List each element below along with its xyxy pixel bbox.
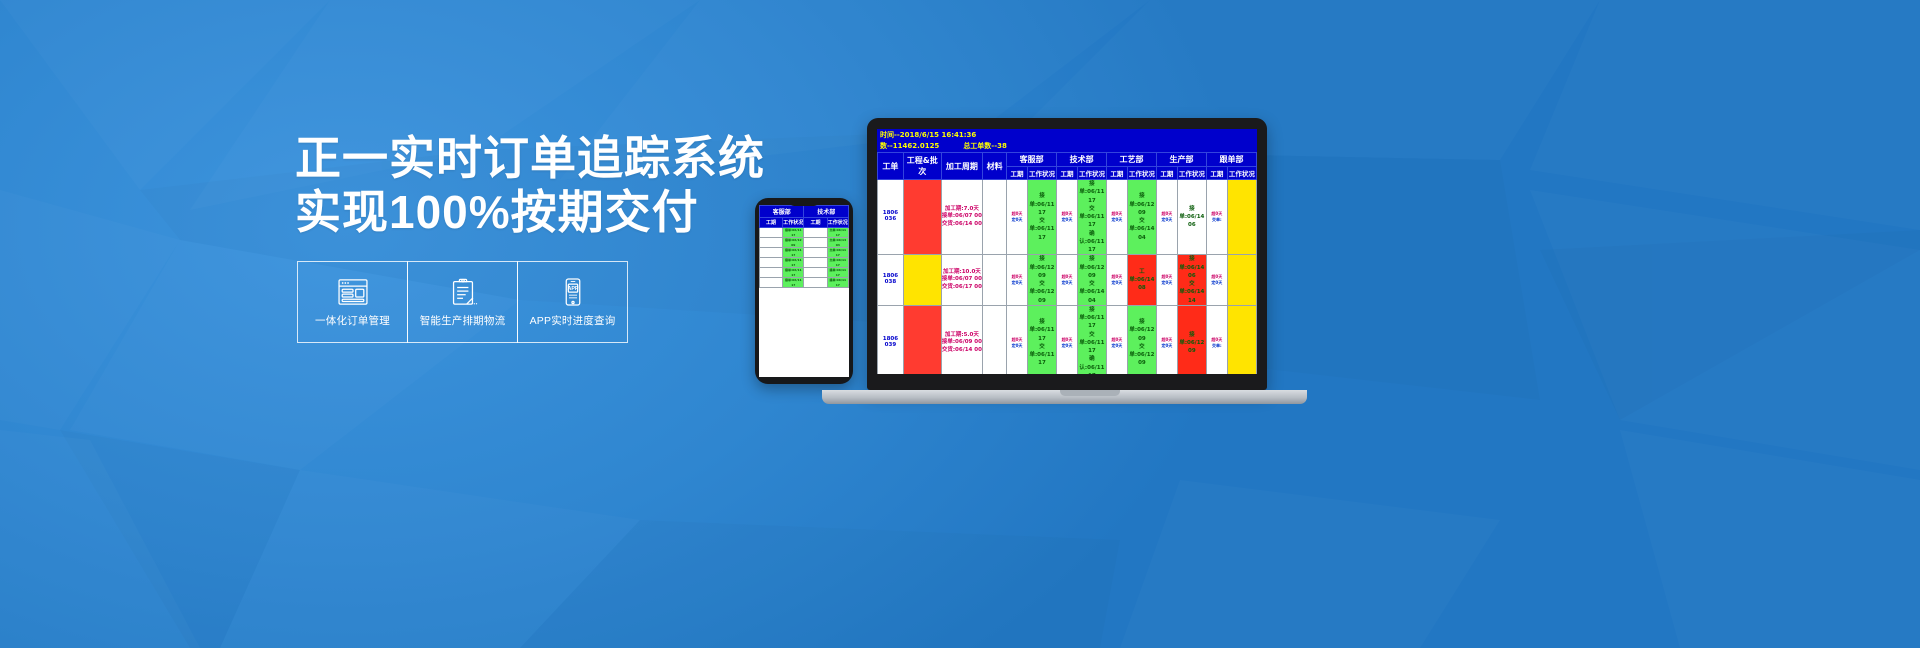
cell-duration: 超0天 定0天 xyxy=(1057,180,1078,255)
cycle-line: 交货:06/14 00 xyxy=(942,221,982,228)
feature-label: 一体化订单管理 xyxy=(315,313,390,328)
col-header-duration: 工期 xyxy=(1107,167,1128,180)
col-header-duration: 工期 xyxy=(1007,167,1028,180)
cell-status: 接单:06/12 09 xyxy=(1177,305,1206,374)
sub-label: 定0天 xyxy=(1107,280,1127,286)
cell-duration: 超0天 定0天 xyxy=(1007,255,1028,306)
status-line: 接单:06/12 09 xyxy=(1128,318,1156,343)
dashboard-total-label: 总工单数--38 xyxy=(963,141,1007,151)
cell-status: 接单:06/12 09 交单:06/12 09 xyxy=(1127,305,1156,374)
cell-duration: 超0天 定0天 xyxy=(1107,180,1128,255)
cell-status: 接单:06/11 17 交单:06/11 17 确认:06/11 17 xyxy=(1077,305,1106,374)
col-header-duration: 工期 xyxy=(1157,167,1178,180)
cell-status: 工单:06/14 08 xyxy=(1127,255,1156,306)
status-line: 接单:06/12 09 xyxy=(1078,255,1106,280)
status-line: 交单:06/12 09 xyxy=(1028,280,1056,305)
phone-column-header-row: 工期 工作状况 工期 工作状况 xyxy=(760,218,849,228)
phone-status-cell: 交单:06/11 17 xyxy=(827,248,848,258)
cell-work-order: 1806 036 xyxy=(878,180,904,255)
table-row: 1806 036 加工期:7.0天 接单:06/07 00 交货:06/14 0… xyxy=(878,180,1257,255)
laptop-screen[interactable]: 时间--2018/6/15 16:41:36 数--11462.0125 总工单… xyxy=(877,129,1257,374)
cell-work-order: 1806 039 xyxy=(878,305,904,374)
cell-project-batch xyxy=(903,305,941,374)
phone-mockup: 客服部 技术部 工期 工作状况 工期 工作状况 接单:06/11 17 交单:0… xyxy=(755,198,853,384)
status-line: 接单:06/14 06 xyxy=(1178,205,1206,230)
cell-duration: 超0天 定0天 xyxy=(1107,305,1128,374)
cell-status: 接单:06/12 09 交单:06/12 09 xyxy=(1027,255,1056,306)
phone-status-cell: 交单:06/11 17 xyxy=(827,228,848,238)
svg-text:APP: APP xyxy=(567,286,578,292)
sub-label: 定0天 xyxy=(1057,217,1077,223)
cell-duration: 超0天 定0天 xyxy=(1157,305,1178,374)
dept-header-technical: 技术部 xyxy=(1057,153,1107,167)
cell-duration: 超0天 定0天 xyxy=(1057,255,1078,306)
sub-label: 定0天 xyxy=(1157,343,1177,349)
cell-material xyxy=(983,180,1007,255)
phone-table-row: 接单:06/12 09 交单:06/14 04 xyxy=(760,238,849,248)
status-line: 工单:06/14 08 xyxy=(1128,268,1156,293)
cell-duration: 超0天 交单: xyxy=(1206,180,1227,255)
cell-work-order: 1806 038 xyxy=(878,255,904,306)
col-header-status: 工作状况 xyxy=(1077,167,1106,180)
dept-header-process: 工艺部 xyxy=(1107,153,1157,167)
col-header-duration: 工期 xyxy=(1206,167,1227,180)
dept-header-customer-service: 客服部 xyxy=(1007,153,1057,167)
cell-material xyxy=(983,255,1007,306)
sub-label: 定0天 xyxy=(1157,217,1177,223)
col-header-status: 工作状况 xyxy=(1227,167,1256,180)
cell-status: 接单:06/14 06 交单:06/14 14 xyxy=(1177,255,1206,306)
status-line: 接单:06/14 06 xyxy=(1178,255,1206,280)
cell-status: 接单:06/12 09 交单:06/14 04 xyxy=(1127,180,1156,255)
sub-label: 定0天 xyxy=(1007,217,1027,223)
sub-label: 定0天 xyxy=(1207,280,1227,286)
cycle-line: 接单:06/07 00 xyxy=(942,213,982,220)
cycle-line: 交货:06/14 00 xyxy=(942,347,982,354)
table-row: 1806 038 加工期:10.0天 接单:06/07 00 交货:06/17 … xyxy=(878,255,1257,306)
sub-label: 定0天 xyxy=(1057,280,1077,286)
phone-status-cell: 接单:06/11 17 xyxy=(783,268,804,278)
phone-col-header: 工作状况 xyxy=(783,218,804,228)
cycle-line: 接单:06/09 00 xyxy=(942,339,982,346)
phone-department-header-row: 客服部 技术部 xyxy=(760,206,849,218)
cell-cycle: 加工期:5.0天 接单:06/09 00 交货:06/14 00 xyxy=(941,305,982,374)
status-line: 确认:06/11 17 xyxy=(1078,355,1106,374)
cell-status xyxy=(1227,305,1256,374)
feature-label: 智能生产排期物流 xyxy=(420,313,506,328)
phone-table-row: 接单:06/11 17 接单:06/11 17 xyxy=(760,268,849,278)
cell-status: 接单:06/12 09 交单:06/14 04 xyxy=(1077,255,1106,306)
sub-label: 定0天 xyxy=(1107,217,1127,223)
phone-status-cell: 接单:06/11 17 xyxy=(783,228,804,238)
dashboard-count-label: 数--11462.0125 xyxy=(880,141,939,151)
cell-status: 接单:06/11 17 交单:06/11 17 确认:06/11 17 xyxy=(1077,180,1106,255)
dashboard-time-label: 时间--2018/6/15 16:41:36 xyxy=(880,130,976,140)
phone-col-header: 工期 xyxy=(760,218,783,228)
status-line: 交单:06/12 09 xyxy=(1128,343,1156,368)
phone-table-row: 接单:06/11 17 交单:06/11 17 xyxy=(760,258,849,268)
laptop-body: 时间--2018/6/15 16:41:36 数--11462.0125 总工单… xyxy=(867,118,1267,390)
cell-status: 接单:06/11 17 交单:06/11 17 xyxy=(1027,305,1056,374)
cell-cycle: 加工期:10.0天 接单:06/07 00 交货:06/17 00 xyxy=(941,255,982,306)
status-line: 接单:06/11 17 xyxy=(1028,192,1056,217)
laptop-mockup: 时间--2018/6/15 16:41:36 数--11462.0125 总工单… xyxy=(862,118,1317,418)
phone-status-cell: 接单:06/11 17 xyxy=(783,248,804,258)
col-header-cycle: 加工周期 xyxy=(941,153,982,180)
col-header-project-batch: 工程&批次 xyxy=(903,153,941,180)
sub-label: 定0天 xyxy=(1057,343,1077,349)
clipboard-schedule-icon xyxy=(445,276,481,308)
phone-col-header: 工作状况 xyxy=(827,218,848,228)
phone-table-row: 接单:06/11 17 接单:06/11 17 xyxy=(760,278,849,288)
status-line: 交单:06/14 04 xyxy=(1078,280,1106,305)
sub-label: 交单: xyxy=(1207,217,1227,223)
status-line: 接单:06/11 17 xyxy=(1078,180,1106,205)
phone-table-row: 接单:06/11 17 交单:06/11 17 xyxy=(760,248,849,258)
status-line: 接单:06/12 09 xyxy=(1028,255,1056,280)
mobile-app-icon: APP xyxy=(555,276,591,308)
phone-table-row: 接单:06/11 17 交单:06/11 17 xyxy=(760,228,849,238)
laptop-base-notch xyxy=(1060,390,1120,396)
sub-label: 定0天 xyxy=(1107,343,1127,349)
status-line: 接单:06/11 17 xyxy=(1028,318,1056,343)
phone-dept-header: 技术部 xyxy=(804,206,849,218)
phone-status-cell: 接单:06/12 09 xyxy=(783,238,804,248)
cell-duration: 超0天 定0天 xyxy=(1206,255,1227,306)
dept-header-production: 生产部 xyxy=(1157,153,1207,167)
col-header-status: 工作状况 xyxy=(1027,167,1056,180)
phone-notch xyxy=(789,200,819,206)
status-line: 交单:06/11 17 xyxy=(1028,343,1056,368)
cycle-line: 接单:06/07 00 xyxy=(942,276,982,283)
cell-duration: 超0天 定0天 xyxy=(1157,255,1178,306)
phone-dashboard-table: 客服部 技术部 工期 工作状况 工期 工作状况 接单:06/11 17 交单:0… xyxy=(759,205,849,288)
cell-status: 接单:06/14 06 xyxy=(1177,180,1206,255)
sub-label: 定0天 xyxy=(1007,343,1027,349)
phone-status-cell: 交单:06/11 17 xyxy=(827,258,848,268)
status-line: 接单:06/12 09 xyxy=(1178,331,1206,356)
phone-status-cell: 交单:06/14 04 xyxy=(827,238,848,248)
col-header-status: 工作状况 xyxy=(1127,167,1156,180)
phone-body: 客服部 技术部 工期 工作状况 工期 工作状况 接单:06/11 17 交单:0… xyxy=(755,198,853,384)
feature-box-app-progress-query[interactable]: APP APP实时进度查询 xyxy=(517,261,628,343)
cell-duration: 超0天 定0天 xyxy=(1107,255,1128,306)
dashboard-table: 工单 工程&批次 加工周期 材料 客服部 技术部 工艺部 生产部 跟单部 工期 … xyxy=(877,152,1257,374)
feature-box-production-scheduling[interactable]: 智能生产排期物流 xyxy=(407,261,518,343)
phone-col-header: 工期 xyxy=(804,218,827,228)
cell-status xyxy=(1227,180,1256,255)
phone-status-cell: 接单:06/11 17 xyxy=(827,278,848,288)
status-line: 交单:06/14 14 xyxy=(1178,280,1206,305)
col-header-work-order: 工单 xyxy=(878,153,904,180)
dashboard-layout-icon xyxy=(335,276,371,308)
cell-project-batch xyxy=(903,255,941,306)
cell-status xyxy=(1227,255,1256,306)
cycle-line: 交货:06/17 00 xyxy=(942,284,982,291)
status-line: 接单:06/12 09 xyxy=(1128,192,1156,217)
status-line: 确认:06/11 17 xyxy=(1078,230,1106,255)
phone-screen[interactable]: 客服部 技术部 工期 工作状况 工期 工作状况 接单:06/11 17 交单:0… xyxy=(759,205,849,377)
sub-label: 定0天 xyxy=(1157,280,1177,286)
cell-duration: 超0天 交单: xyxy=(1206,305,1227,374)
cell-project-batch xyxy=(903,180,941,255)
department-header-row: 工单 工程&批次 加工周期 材料 客服部 技术部 工艺部 生产部 跟单部 xyxy=(878,153,1257,167)
cell-duration: 超0天 定0天 xyxy=(1007,305,1028,374)
status-line: 交单:06/11 17 xyxy=(1028,217,1056,242)
status-line: 交单:06/14 04 xyxy=(1128,217,1156,242)
col-header-material: 材料 xyxy=(983,153,1007,180)
status-line: 交单:06/11 17 xyxy=(1078,205,1106,230)
cell-cycle: 加工期:7.0天 接单:06/07 00 交货:06/14 00 xyxy=(941,180,982,255)
feature-box-order-management[interactable]: 一体化订单管理 xyxy=(297,261,408,343)
phone-status-cell: 接单:06/11 17 xyxy=(783,258,804,268)
sub-label: 交单: xyxy=(1207,343,1227,349)
feature-box-list: 一体化订单管理 智能生产排期物流 xyxy=(297,261,627,343)
table-row: 1806 039 加工期:5.0天 接单:06/09 00 交货:06/14 0… xyxy=(878,305,1257,374)
feature-label: APP实时进度查询 xyxy=(530,313,616,328)
phone-status-cell: 接单:06/11 17 xyxy=(783,278,804,288)
phone-status-cell: 接单:06/11 17 xyxy=(827,268,848,278)
dashboard-title-bar: 时间--2018/6/15 16:41:36 xyxy=(877,129,1257,141)
cell-duration: 超0天 定0天 xyxy=(1007,180,1028,255)
cell-duration: 超0天 定0天 xyxy=(1057,305,1078,374)
status-line: 接单:06/11 17 xyxy=(1078,306,1106,331)
phone-dept-header: 客服部 xyxy=(760,206,804,218)
status-line: 交单:06/11 17 xyxy=(1078,331,1106,356)
headline-line-1: 正一实时订单追踪系统 xyxy=(295,132,935,186)
cell-material xyxy=(983,305,1007,374)
col-header-duration: 工期 xyxy=(1057,167,1078,180)
dashboard-subtitle-bar: 数--11462.0125 总工单数--38 xyxy=(877,141,1257,152)
cell-duration: 超0天 定0天 xyxy=(1157,180,1178,255)
dept-header-merchandising: 跟单部 xyxy=(1206,153,1256,167)
cell-status: 接单:06/11 17 交单:06/11 17 xyxy=(1027,180,1056,255)
col-header-status: 工作状况 xyxy=(1177,167,1206,180)
sub-label: 定0天 xyxy=(1007,280,1027,286)
